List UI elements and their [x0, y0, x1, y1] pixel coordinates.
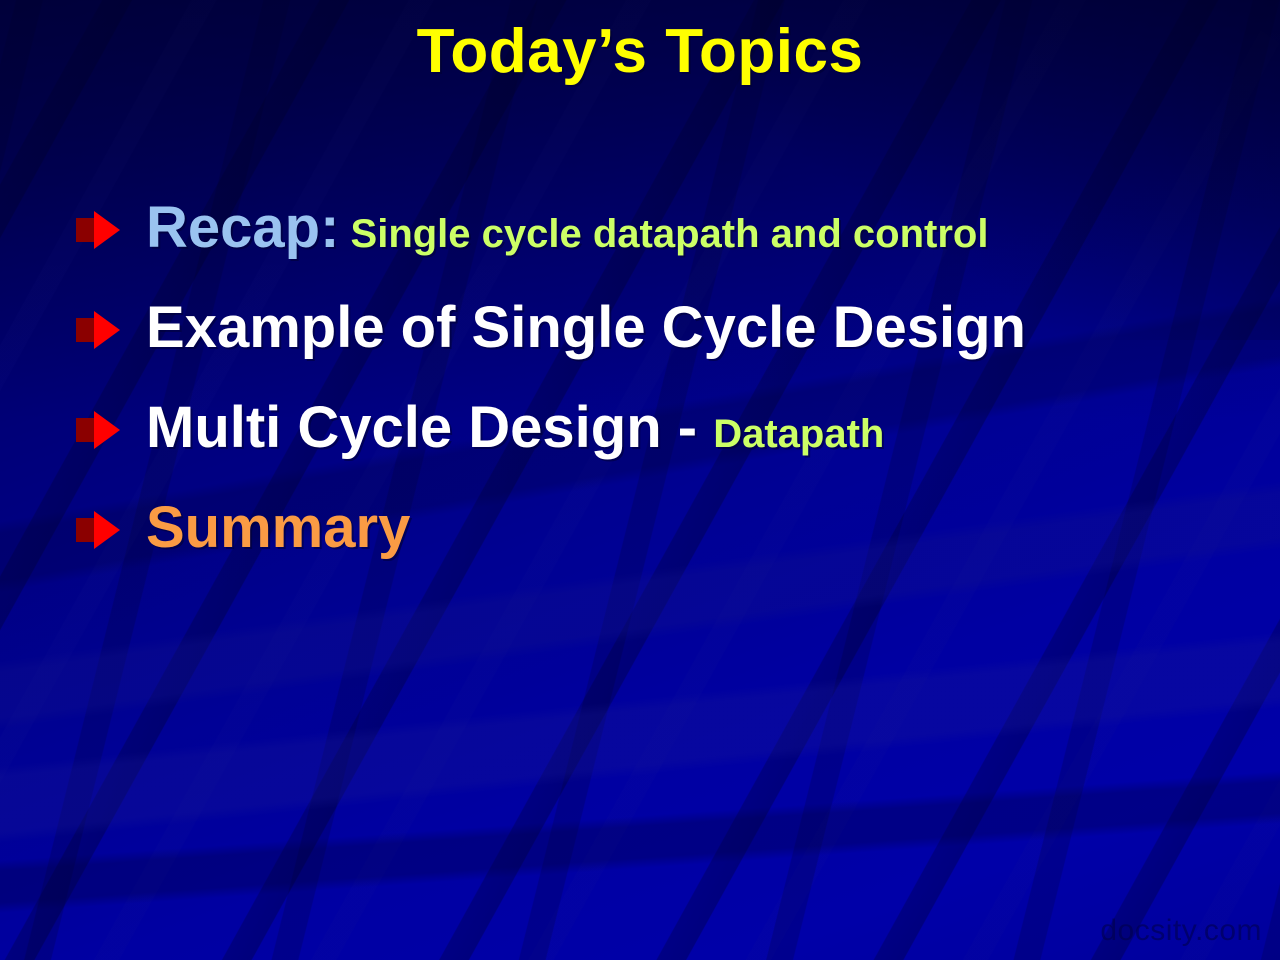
bullet-item-label: Recap: Single cycle datapath and control: [146, 199, 988, 257]
presentation-slide: Today’s Topics Recap: Single cycle datap…: [0, 0, 1280, 960]
bullet-text-segment: Recap:: [146, 195, 339, 260]
watermark-text: docsity.com: [1100, 914, 1262, 948]
bullet-text-segment: Example of Single Cycle Design: [146, 295, 1026, 360]
bullet-item-example-single-cycle: Example of Single Cycle Design: [74, 278, 1240, 378]
bullet-list: Recap: Single cycle datapath and control…: [74, 178, 1240, 578]
bullet-item-label: Example of Single Cycle Design: [146, 299, 1026, 357]
red-arrow-bullet-icon: [74, 411, 126, 449]
red-arrow-bullet-icon: [74, 511, 126, 549]
bullet-item-multi-cycle-design: Multi Cycle Design - Datapath: [74, 378, 1240, 478]
bullet-item-label: Multi Cycle Design - Datapath: [146, 399, 884, 457]
bullet-item-label: Summary: [146, 499, 410, 557]
red-arrow-bullet-icon: [74, 311, 126, 349]
bullet-item-recap: Recap: Single cycle datapath and control: [74, 178, 1240, 278]
bullet-text-segment: Single cycle datapath and control: [339, 212, 988, 256]
bullet-arrow-shape: [94, 511, 120, 549]
bullet-arrow-shape: [94, 311, 120, 349]
red-arrow-bullet-icon: [74, 211, 126, 249]
bullet-item-summary: Summary: [74, 478, 1240, 578]
slide-title: Today’s Topics: [0, 16, 1280, 87]
bullet-text-segment: Multi Cycle Design -: [146, 395, 713, 460]
bullet-arrow-shape: [94, 211, 120, 249]
bullet-text-segment: Summary: [146, 495, 410, 560]
bullet-text-segment: Datapath: [713, 412, 884, 456]
bullet-arrow-shape: [94, 411, 120, 449]
